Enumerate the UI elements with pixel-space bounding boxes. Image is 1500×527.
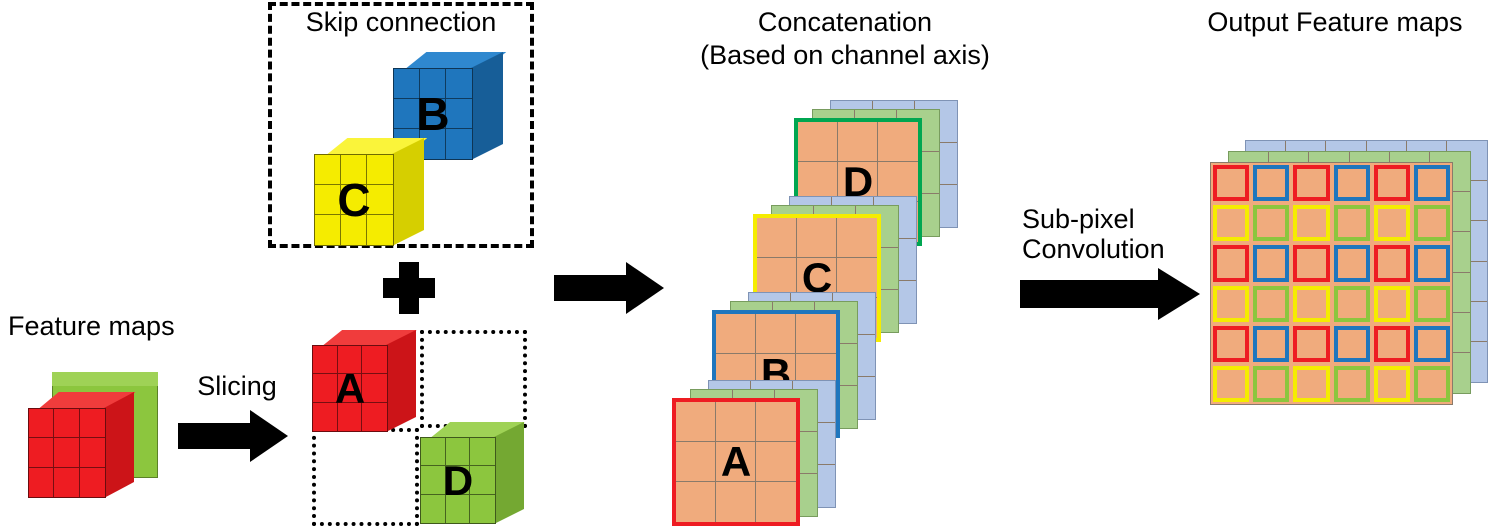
output-cell-c xyxy=(1293,205,1329,241)
concat-layer-a-letter: A xyxy=(672,398,800,526)
cell xyxy=(29,468,54,497)
arrow-head xyxy=(1158,268,1200,320)
cell xyxy=(54,438,79,467)
label-slicing: Slicing xyxy=(182,370,292,403)
cell xyxy=(470,495,495,523)
cell xyxy=(446,495,471,523)
output-cell-a xyxy=(1213,165,1249,201)
cell xyxy=(420,99,446,129)
cell xyxy=(54,409,79,438)
cube-d-front-face xyxy=(420,437,496,524)
cell xyxy=(446,99,472,129)
cell xyxy=(367,155,393,185)
cell xyxy=(80,438,105,467)
cube-d-side-face xyxy=(494,422,524,524)
output-cell-d xyxy=(1334,205,1370,241)
cell xyxy=(421,466,446,494)
output-cell-d xyxy=(1253,366,1289,402)
output-cell-c xyxy=(1213,366,1249,402)
cell xyxy=(420,69,446,99)
feature-cube-front-face xyxy=(28,408,106,498)
output-front-grid xyxy=(1210,162,1453,405)
output-cell-a xyxy=(1293,165,1329,201)
title-concatenation-line1: Concatenation xyxy=(700,6,990,39)
output-cell-c xyxy=(1213,286,1249,322)
cell xyxy=(367,185,393,215)
output-cell-b xyxy=(1253,165,1289,201)
output-cell-c xyxy=(1293,286,1329,322)
arrow-shaft xyxy=(554,275,628,301)
concat-arrow xyxy=(554,262,664,314)
cell xyxy=(394,69,420,99)
skip-cube-c: C xyxy=(314,138,424,246)
title-concatenation-line2: (Based on channel axis) xyxy=(660,39,1030,72)
label-subpixel-line2: Convolution xyxy=(1022,233,1202,266)
label-subpixel-line1: Sub-pixel xyxy=(1022,203,1182,236)
cell xyxy=(54,468,79,497)
cube-c-front-face xyxy=(314,154,394,246)
output-cell-a xyxy=(1213,245,1249,281)
output-cell-d xyxy=(1414,286,1450,322)
cube-a-side-face xyxy=(386,330,416,432)
cube-c-side-face xyxy=(392,138,424,246)
output-cell-d xyxy=(1253,286,1289,322)
output-cell-c xyxy=(1374,286,1410,322)
arrow-head xyxy=(626,262,664,314)
output-cell-b xyxy=(1414,165,1450,201)
slicing-arrow xyxy=(178,410,288,462)
slice-cube-a: A xyxy=(312,330,416,432)
plus-vertical-bar xyxy=(399,262,419,314)
cell xyxy=(470,438,495,466)
output-cell-c xyxy=(1374,366,1410,402)
plus-icon xyxy=(383,262,435,314)
diagram-canvas: Skip connection Concatenation (Based on … xyxy=(0,0,1500,527)
cell xyxy=(341,185,367,215)
cell xyxy=(421,438,446,466)
output-cell-a xyxy=(1213,326,1249,362)
output-cell-a xyxy=(1293,326,1329,362)
output-cell-a xyxy=(1374,165,1410,201)
title-output-feature-maps: Output Feature maps xyxy=(1180,6,1490,39)
output-feature-maps-stack xyxy=(1210,140,1500,430)
cell xyxy=(29,438,54,467)
cell xyxy=(315,185,341,215)
output-cell-c xyxy=(1213,205,1249,241)
cell xyxy=(341,215,367,245)
cube-a-front-face xyxy=(312,345,388,432)
output-cell-a xyxy=(1293,245,1329,281)
cell xyxy=(315,215,341,245)
title-feature-maps: Feature maps xyxy=(8,310,188,343)
cell xyxy=(313,403,338,431)
feature-cube-side-face xyxy=(104,392,134,498)
concat-layer-a: A xyxy=(672,380,862,527)
cell xyxy=(338,374,363,402)
cell xyxy=(446,438,471,466)
output-cell-d xyxy=(1334,286,1370,322)
output-cell-b xyxy=(1414,326,1450,362)
output-cell-d xyxy=(1253,205,1289,241)
sliced-feature-maps: D A xyxy=(312,330,527,527)
output-cell-d xyxy=(1414,205,1450,241)
cell xyxy=(362,374,387,402)
output-cell-a xyxy=(1374,245,1410,281)
cell xyxy=(338,403,363,431)
output-cell-b xyxy=(1253,326,1289,362)
arrow-shaft xyxy=(178,423,252,449)
cell xyxy=(446,69,472,99)
cell xyxy=(315,155,341,185)
cell xyxy=(367,215,393,245)
cell xyxy=(338,346,363,374)
cell xyxy=(470,466,495,494)
output-cell-a xyxy=(1374,326,1410,362)
cell xyxy=(446,129,472,159)
slice-cube-d: D xyxy=(420,422,524,524)
cell xyxy=(362,346,387,374)
cell xyxy=(80,468,105,497)
cell xyxy=(421,495,446,523)
slice-slot-empty-bottom-left xyxy=(312,428,419,526)
cell xyxy=(313,374,338,402)
arrow-head xyxy=(250,410,288,462)
output-cell-c xyxy=(1293,366,1329,402)
cell xyxy=(446,466,471,494)
slice-slot-empty-top-right xyxy=(420,330,527,428)
subpixel-arrow xyxy=(1020,268,1200,320)
arrow-shaft xyxy=(1020,280,1160,308)
cell xyxy=(313,346,338,374)
output-cell-c xyxy=(1374,205,1410,241)
cell xyxy=(394,99,420,129)
feature-maps-cube xyxy=(28,372,158,502)
cell xyxy=(29,409,54,438)
output-cell-b xyxy=(1334,165,1370,201)
output-cell-b xyxy=(1253,245,1289,281)
output-cell-d xyxy=(1414,366,1450,402)
output-cell-d xyxy=(1334,366,1370,402)
cell xyxy=(80,409,105,438)
cell xyxy=(362,403,387,431)
output-cell-b xyxy=(1414,245,1450,281)
output-cell-b xyxy=(1334,326,1370,362)
cell xyxy=(341,155,367,185)
feature-maps-front-cube xyxy=(28,392,134,498)
cube-b-side-face xyxy=(471,52,503,160)
output-cell-b xyxy=(1334,245,1370,281)
